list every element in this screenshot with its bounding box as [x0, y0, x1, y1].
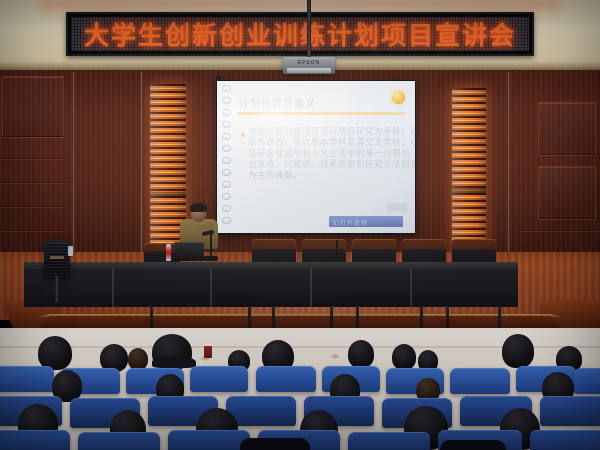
- projector-mount-pole: [307, 0, 311, 58]
- audience-head: [128, 348, 148, 370]
- auditorium-seat: [0, 430, 70, 450]
- slide-spiral-binding: [221, 83, 233, 233]
- audience-head: [38, 336, 72, 370]
- projector-brand-label: EPSON: [283, 60, 335, 66]
- pa-loudspeaker: [44, 240, 70, 278]
- auditorium-seat: [540, 396, 600, 426]
- spiral-ring: [222, 121, 231, 128]
- wall-panel-groove: [0, 230, 66, 232]
- microphone-gooseneck: [210, 233, 212, 258]
- pa-speaker-bracket: [68, 246, 73, 256]
- audience-head: [392, 344, 416, 370]
- audience-phone: [204, 346, 212, 358]
- table-leg: [420, 306, 423, 328]
- table-panel-seam: [210, 269, 212, 307]
- audience-head: [348, 340, 374, 368]
- auditorium-scene: 大学生创新创业训练计划项目宣讲会 EPSON: [0, 0, 600, 450]
- pa-speaker-stand: [55, 276, 59, 302]
- led-banner: 大学生创新创业训练计划项目宣讲会: [66, 12, 534, 56]
- auditorium-seat: [256, 366, 316, 392]
- spiral-ring: [222, 109, 231, 116]
- slide-body-line: 出发点，以知识、技术创新和研究方法创新: [248, 160, 402, 171]
- audience-shoulders: [440, 440, 506, 450]
- led-banner-panel: 大学生创新创业训练计划项目宣讲会: [71, 17, 529, 51]
- slide-body-line: 及研发或自然和人文生活中的某一问题为: [248, 149, 402, 160]
- slat-sheen: [452, 88, 486, 254]
- stage-chair: [352, 239, 396, 264]
- audience-head: [502, 334, 534, 368]
- wall-seam: [72, 72, 75, 254]
- microphone-base: [204, 256, 218, 261]
- wall-panel-rect: [538, 102, 596, 156]
- second-microphone-gooseneck: [336, 240, 338, 258]
- conference-table-front: [24, 269, 518, 307]
- auditorium-seat: [450, 368, 510, 394]
- slide-taskbar: 幻灯片放映: [329, 216, 403, 227]
- wall-panel-groove: [0, 158, 66, 160]
- spiral-ring: [222, 217, 231, 224]
- table-leg: [356, 306, 359, 328]
- auditorium-seat: [168, 430, 250, 450]
- wall-panel-rect: [2, 76, 64, 138]
- right-acoustic-slat-panel: [452, 88, 486, 254]
- spiral-ring: [222, 181, 231, 188]
- wall-seam: [140, 72, 143, 254]
- right-wall-panel-group: [514, 72, 600, 254]
- table-leg: [150, 306, 153, 328]
- spiral-ring: [222, 85, 231, 92]
- pa-speaker-grille: [47, 243, 67, 275]
- audience-area: [0, 330, 600, 450]
- auditorium-seat: [530, 430, 600, 450]
- water-bottle: [166, 244, 171, 261]
- projector-lens: [287, 68, 331, 73]
- slide-title-rule: [237, 112, 405, 115]
- wall-panel-groove: [0, 206, 66, 208]
- table-leg: [330, 306, 333, 328]
- slide-body-line: 为主的课题。: [248, 171, 402, 182]
- slide-body-line: 新为目的，可以是本学科及其交叉学科，以: [248, 138, 402, 149]
- second-microphone-base: [331, 257, 343, 261]
- table-leg: [272, 306, 275, 328]
- auditorium-seat: [348, 432, 430, 450]
- spiral-ring: [222, 193, 231, 200]
- wall-panel-groove: [0, 182, 66, 184]
- slide-title: 计划内容与意义: [239, 95, 316, 110]
- pa-speaker-badge: [50, 256, 64, 259]
- slide-taskbar-text: 幻灯片放映: [333, 218, 368, 227]
- stage-chair: [452, 239, 496, 264]
- audience-shoulders: [240, 438, 310, 450]
- projection-screen: 计划内容与意义 申报创新训练项目须以项目研究为手段，以创 新为目的，可以是本学科…: [217, 81, 415, 233]
- slide-bullet-icon: [241, 133, 245, 137]
- presenter-hair: [190, 203, 207, 212]
- led-banner-text: 大学生创新创业训练计划项目宣讲会: [84, 17, 516, 51]
- auditorium-seat: [0, 366, 54, 392]
- spiral-ring: [222, 157, 231, 164]
- audience-cap: [152, 356, 196, 368]
- table-leg: [248, 306, 251, 328]
- spiral-ring: [222, 205, 231, 212]
- wall-panel-rect: [538, 166, 596, 220]
- slide-corner-badge-icon: [392, 91, 405, 104]
- spiral-ring: [222, 169, 231, 176]
- slide-body-line: 申报创新训练项目须以项目研究为手段，以创: [248, 127, 402, 138]
- spiral-ring: [222, 133, 231, 140]
- table-leg: [446, 306, 449, 328]
- auditorium-seat: [574, 368, 600, 394]
- table-panel-seam: [410, 269, 412, 307]
- spiral-ring: [222, 97, 231, 104]
- projection-screen-frame: 计划内容与意义 申报创新训练项目须以项目研究为手段，以创 新为目的，可以是本学科…: [216, 80, 416, 235]
- table-leg: [498, 306, 501, 328]
- left-wall-panel-group: [0, 72, 68, 254]
- wall-seam: [507, 72, 510, 254]
- auditorium-seat: [190, 366, 248, 392]
- auditorium-seat: [78, 432, 160, 450]
- slide-thumbnail-block: [387, 203, 407, 211]
- table-panel-seam: [310, 269, 312, 307]
- table-panel-seam: [112, 269, 114, 307]
- presenter-laptop: [174, 242, 204, 261]
- stage-chair: [402, 239, 446, 264]
- wall-panel-groove: [520, 230, 600, 232]
- slide-body-text: 申报创新训练项目须以项目研究为手段，以创 新为目的，可以是本学科及其交叉学科，以…: [248, 127, 402, 182]
- ceiling-projector: EPSON: [283, 57, 335, 74]
- spiral-ring: [222, 145, 231, 152]
- stage-chair: [252, 239, 296, 264]
